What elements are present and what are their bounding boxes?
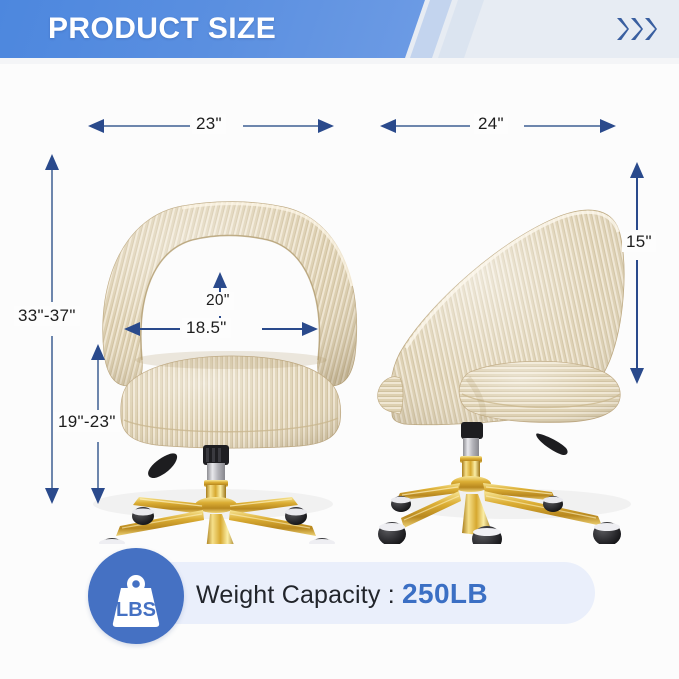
product-size-infographic: PRODUCT SIZE bbox=[0, 0, 679, 679]
seat-mechanism-rear bbox=[461, 422, 483, 439]
chairs-illustration bbox=[0, 64, 679, 544]
dim-label-total-height: 33"-37" bbox=[14, 306, 80, 326]
dim-label-back-height: 20" bbox=[202, 292, 234, 310]
weight-capacity-badge: LBS Weight Capacity : 250LB bbox=[0, 548, 679, 668]
chevrons-right-icon bbox=[616, 17, 657, 41]
weight-capacity-value: 250LB bbox=[402, 578, 488, 609]
dim-arrow-total-height bbox=[45, 154, 59, 504]
height-adjust-lever-rear bbox=[536, 433, 567, 455]
weight-capacity-text: Weight Capacity : 250LB bbox=[196, 578, 488, 610]
weight-icon-circle: LBS bbox=[88, 548, 184, 644]
chevron-right-icon bbox=[630, 17, 643, 41]
chair-front-view bbox=[93, 202, 357, 544]
dim-label-back-height-rear: 15" bbox=[622, 232, 656, 252]
page-title: PRODUCT SIZE bbox=[48, 8, 276, 50]
gas-cylinder-chrome bbox=[207, 463, 225, 482]
weight-capacity-caption: Weight Capacity : bbox=[196, 581, 402, 609]
chevron-right-icon bbox=[616, 17, 629, 41]
dim-label-seat-height: 19"-23" bbox=[54, 412, 120, 432]
dim-label-width-front: 23" bbox=[192, 114, 226, 134]
height-adjust-lever bbox=[148, 453, 177, 478]
chair-rear-view bbox=[378, 210, 631, 544]
diagram-stage: 23" 24" 33"-37" 19"-23" 20" 18.5" 15" bbox=[0, 64, 679, 544]
chevron-right-icon bbox=[644, 17, 657, 41]
dim-label-seat-width: 18.5" bbox=[182, 318, 231, 338]
dim-label-width-rear: 24" bbox=[474, 114, 508, 134]
dim-arrow-back-height-rear bbox=[630, 162, 644, 384]
weight-lbs-icon: LBS bbox=[88, 548, 184, 644]
lbs-icon-text: LBS bbox=[116, 599, 156, 621]
header-banner: PRODUCT SIZE bbox=[0, 0, 679, 58]
